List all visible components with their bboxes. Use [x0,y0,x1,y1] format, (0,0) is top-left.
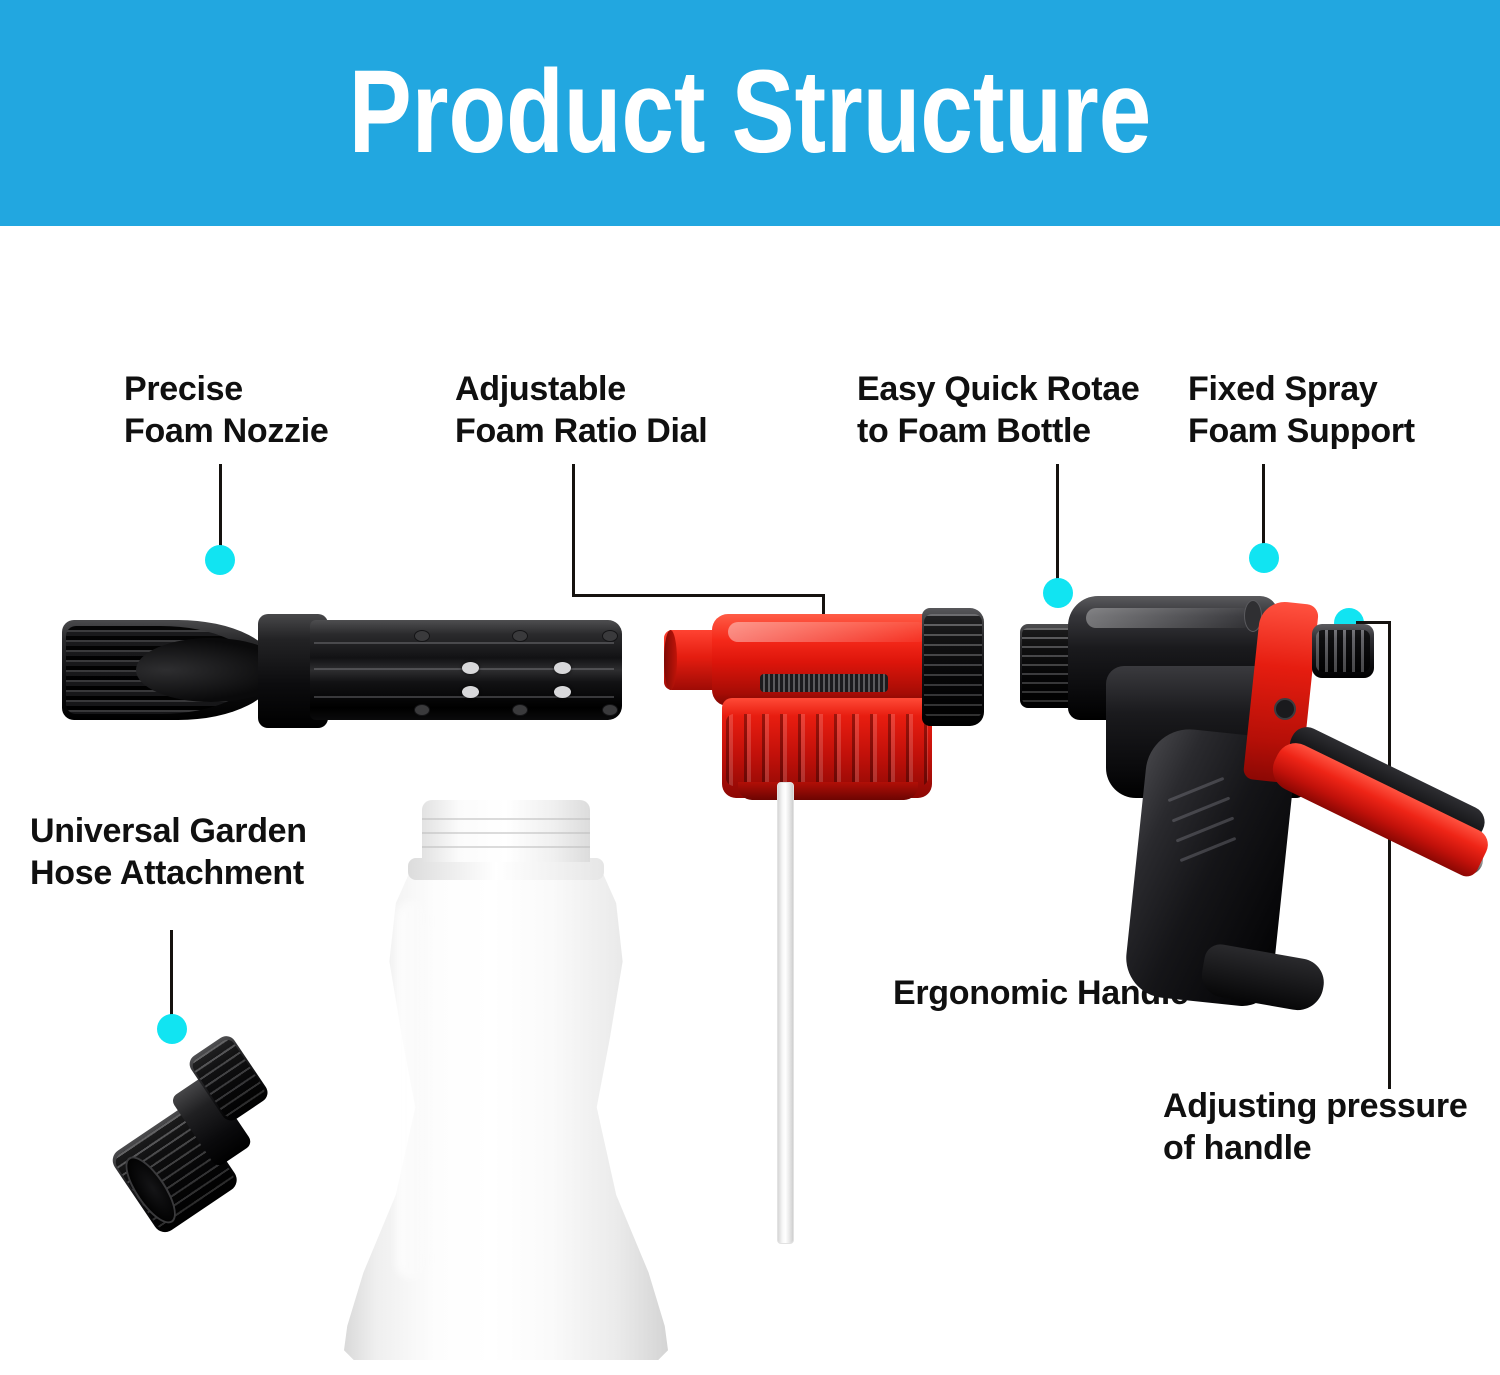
gun-knob-ribs [1316,630,1370,672]
leader-line-easy-quick-rotae [1056,464,1059,586]
wand-vent-hole [462,686,479,698]
wand-rib [314,642,614,644]
callout-label-fixed-spray-support: Fixed Spray Foam Support [1188,368,1415,452]
leader-line-precise-foam-nozzie [219,464,222,552]
part-pickup-tube [777,782,794,1244]
callout-label-easy-quick-rotae: Easy Quick Rotae to Foam Bottle [857,368,1139,452]
wand-screw [414,630,430,642]
bottle-threads [422,806,590,856]
gun-barrel-highlight [1086,608,1252,628]
gun-trigger-assembly [1252,602,1500,932]
header-banner: Product Structure [0,0,1500,226]
product-structure-diagram: Product Structure Precise Foam Nozzie Ad… [0,0,1500,1375]
wand-screw [512,630,528,642]
dial-body-highlight [728,622,928,642]
callout-label-adjustable-foam-ratio: Adjustable Foam Ratio Dial [455,368,707,452]
wand-screw [512,704,528,716]
part-foam-bottle [336,800,676,1360]
page-title: Product Structure [150,52,1350,172]
trigger-pivot-screw [1274,698,1296,720]
bottle-body [344,874,668,1360]
callout-label-adjusting-pressure: Adjusting pressure of handle [1163,1085,1467,1169]
callout-dot-fixed-spray-support [1249,543,1279,573]
callout-dot-universal-hose [157,1014,187,1044]
dial-collar-ribs [726,714,928,786]
dial-spout-opening [664,630,677,690]
part-foam-dial [664,606,984,796]
callout-label-universal-hose: Universal Garden Hose Attachment [30,810,307,894]
part-spray-gun [1020,592,1490,1012]
leader-line-fixed-spray-support [1262,464,1265,552]
callout-dot-precise-foam-nozzie [205,545,235,575]
wand-screw [414,704,430,716]
bottle-highlight [396,900,430,1280]
wand-vent-hole [462,662,479,674]
wand-screw [602,630,618,642]
wand-vent-hole [554,686,571,698]
callout-label-precise-foam-nozzie: Precise Foam Nozzie [124,368,329,452]
part-hose-connector [85,1027,310,1246]
leader-line-adjustable-foam-ratio-horz [572,594,825,597]
dial-collar-lip [738,782,918,800]
wand-vent-hole [554,662,571,674]
dial-ratio-knurl [760,674,888,692]
wand-screw [602,704,618,716]
dial-thread-rings [924,614,982,718]
part-nozzle-wand [62,612,622,730]
leader-line-adjustable-foam-ratio-vert1 [572,464,575,597]
